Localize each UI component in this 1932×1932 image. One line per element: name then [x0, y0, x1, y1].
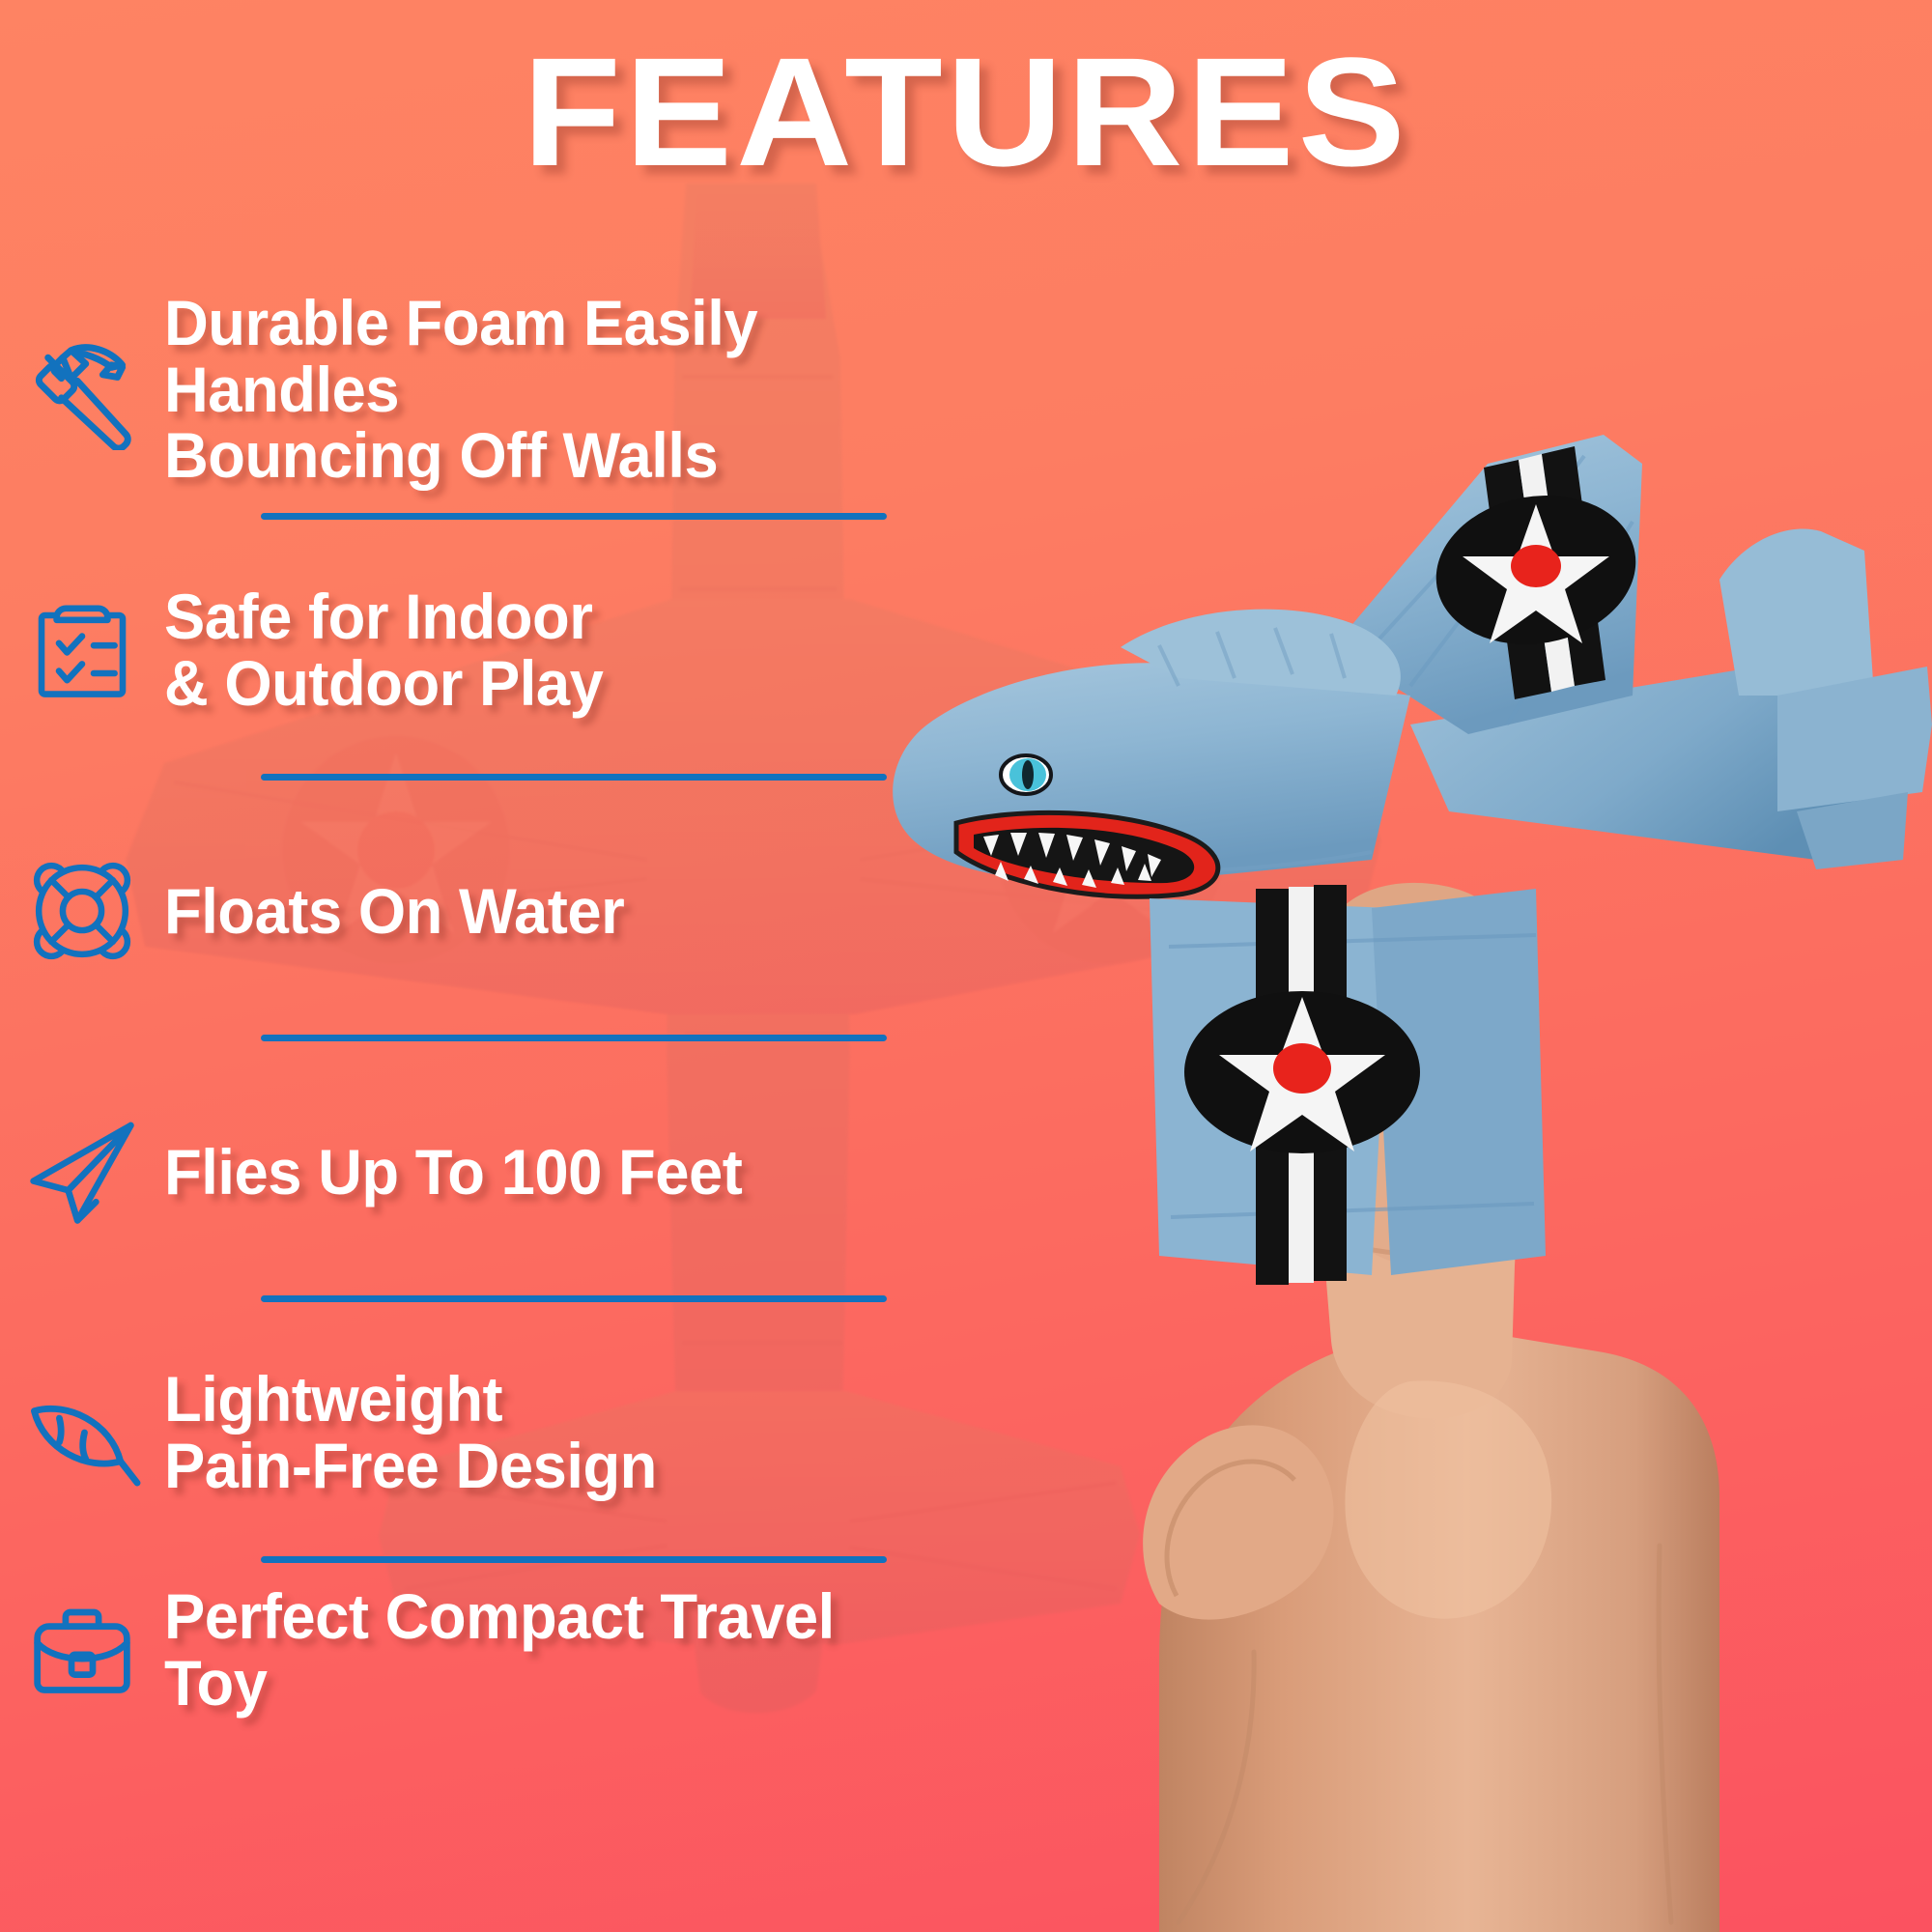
feather-icon — [0, 1373, 164, 1492]
briefcase-icon — [0, 1591, 164, 1709]
clipboard-checklist-icon — [0, 592, 164, 708]
feature-label: Perfect Compact Travel Toy — [164, 1583, 934, 1716]
hand-holding-foam-glider — [869, 406, 1932, 1932]
feature-row: Durable Foam Easily Handles Bouncing Off… — [0, 259, 966, 520]
feature-row: Perfect Compact Travel Toy — [0, 1563, 966, 1737]
features-list: Durable Foam Easily Handles Bouncing Off… — [0, 259, 966, 1737]
feature-divider — [261, 1295, 887, 1302]
life-preserver-icon — [0, 854, 164, 968]
feature-divider — [261, 1556, 887, 1563]
paper-plane-icon — [0, 1114, 164, 1230]
feature-label: Durable Foam Easily Handles Bouncing Off… — [164, 290, 934, 489]
feature-label: Flies Up To 100 Feet — [164, 1139, 742, 1206]
feature-row: Floats On Water — [0, 781, 966, 1041]
page-title: FEATURES — [0, 35, 1932, 189]
feature-divider — [261, 513, 887, 520]
foam-glider — [893, 435, 1932, 1285]
feature-label: Floats On Water — [164, 878, 624, 945]
feature-label: Lightweight Pain-Free Design — [164, 1366, 657, 1498]
feature-divider — [261, 1035, 887, 1041]
feature-divider — [261, 774, 887, 781]
star-insignia-lower — [1184, 991, 1420, 1153]
shark-eye — [1001, 755, 1051, 794]
feature-label: Safe for Indoor & Outdoor Play — [164, 583, 603, 716]
feature-row: Lightweight Pain-Free Design — [0, 1302, 966, 1563]
hammer-icon — [0, 328, 164, 450]
feature-row: Flies Up To 100 Feet — [0, 1041, 966, 1302]
feature-row: Safe for Indoor & Outdoor Play — [0, 520, 966, 781]
